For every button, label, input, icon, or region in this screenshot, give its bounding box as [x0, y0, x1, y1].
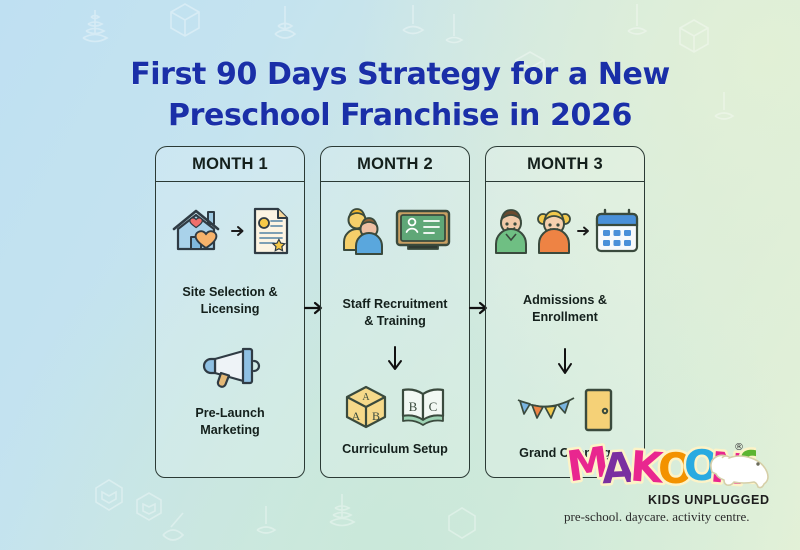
site-selection-icon-group [168, 204, 292, 258]
page-title: First 90 Days Strategy for a New Prescho… [0, 54, 800, 137]
rattle-doodle [265, 2, 305, 46]
grand-opening-icon-group [515, 387, 615, 433]
stacking-rings-doodle [75, 4, 115, 50]
step-label-curriculum-setup: Curriculum Setup [334, 441, 456, 458]
timeline-board: MONTH 1 [155, 146, 655, 478]
stacking-rings-doodle [320, 486, 364, 532]
month-card-2[interactable]: MONTH 2 [320, 146, 470, 478]
month-card-1[interactable]: MONTH 1 [155, 146, 305, 478]
chalkboard-icon [394, 207, 452, 257]
open-book-icon: B C [398, 384, 448, 430]
svg-text:A: A [362, 392, 370, 403]
rattle-doodle [155, 505, 201, 549]
month-card-1-header: MONTH 1 [156, 147, 304, 182]
rattle-doodle [392, 0, 434, 42]
rattle-doodle [618, 0, 656, 42]
month-card-3-header: MONTH 3 [486, 147, 644, 182]
step-label-pre-launch: Pre-Launch Marketing [187, 405, 272, 440]
house-heart-icon [168, 204, 226, 258]
staff-people-icon [338, 206, 392, 258]
children-icon [534, 206, 574, 256]
rattle-doodle [246, 500, 286, 542]
bunting-flags-icon [515, 392, 577, 428]
block-doodle [86, 472, 130, 516]
logo-subtagline: pre-school. daycare. activity centre. [564, 509, 750, 525]
rattle-doodle [436, 6, 472, 50]
block-doodle [440, 500, 482, 544]
logo-tagline: KIDS UNPLUGGED [648, 493, 770, 507]
month-card-1-body: Site Selection & Licensing Pre-Launch Ma… [156, 182, 304, 478]
step-label-admissions: Admissions & Enrollment [515, 292, 615, 327]
month-card-2-header: MONTH 2 [321, 147, 469, 182]
door-icon [581, 387, 615, 433]
svg-text:C: C [429, 399, 438, 414]
svg-text:A: A [352, 409, 361, 423]
polar-bear-icon [700, 442, 778, 494]
block-doodle [128, 486, 168, 526]
step-label-staff-recruitment: Staff Recruitment & Training [335, 296, 456, 331]
megaphone-icon [199, 343, 261, 389]
arrow-right-icon [577, 224, 591, 238]
children-icon [491, 206, 531, 256]
arrow-down-icon [555, 347, 575, 377]
svg-text:B: B [409, 399, 418, 414]
block-doodle [163, 0, 207, 40]
month-card-3[interactable]: MONTH 3 [485, 146, 645, 478]
month-card-3-body: Admissions & Enrollment [486, 182, 644, 478]
calendar-icon [594, 207, 640, 255]
month-card-2-body: Staff Recruitment & Training A A B [321, 182, 469, 478]
title-line-2: Preschool Franchise in 2026 [0, 95, 800, 136]
arrow-down-icon [385, 345, 405, 373]
title-line-1: First 90 Days Strategy for a New [130, 57, 670, 92]
makons-logo[interactable]: M A K O O N S ® KIDS UNPLUGGED pre-schoo… [560, 436, 792, 540]
block-doodle [672, 14, 714, 58]
license-document-icon [250, 204, 292, 258]
step-label-site-selection: Site Selection & Licensing [174, 284, 285, 319]
arrow-right-icon [230, 223, 246, 239]
svg-text:B: B [372, 409, 380, 423]
pre-launch-icon-group [199, 343, 261, 389]
curriculum-icon-group: A A B B C [342, 383, 448, 431]
admissions-icon-group [491, 206, 640, 256]
staff-training-icon-group [338, 206, 452, 258]
infographic-canvas: First 90 Days Strategy for a New Prescho… [0, 0, 800, 550]
abc-block-icon: A A B [342, 383, 390, 431]
